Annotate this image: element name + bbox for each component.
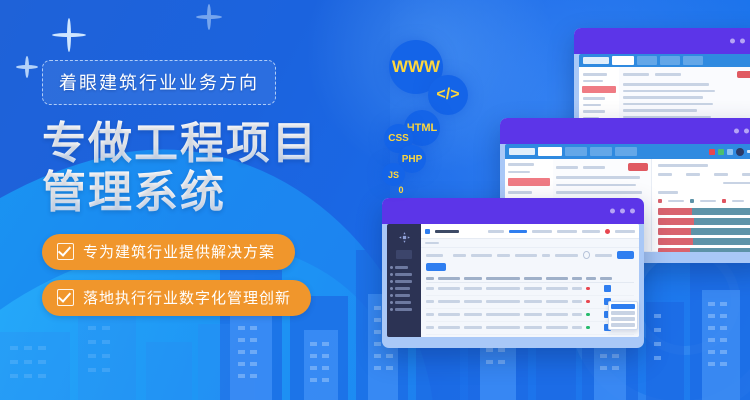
app-logo [583, 57, 609, 64]
sidebar-item-icon [390, 301, 393, 304]
window-titlebar [500, 118, 750, 144]
window-controls[interactable] [730, 39, 750, 44]
sidebar-item-label [395, 294, 410, 297]
tech-bubble-0: 0 [393, 182, 409, 198]
app-topnav [421, 224, 639, 239]
filter-field[interactable] [453, 254, 465, 257]
filter-toggle[interactable] [595, 254, 612, 257]
tab-label[interactable] [425, 242, 439, 245]
tab-strip [421, 239, 639, 248]
row-action-icon[interactable] [604, 285, 611, 292]
table-cell [438, 287, 460, 290]
sidebar-item-icon [390, 308, 393, 311]
table-cell [546, 326, 568, 329]
table-cell [426, 313, 434, 316]
table-cell [464, 326, 482, 329]
table-cell [426, 326, 434, 329]
sidebar-item-label [395, 287, 410, 290]
table-header-row [426, 275, 634, 283]
table-cell [426, 287, 434, 290]
notification-icon[interactable] [709, 149, 715, 155]
search-icon[interactable] [583, 251, 590, 259]
sidebar-menu [387, 264, 421, 313]
breadcrumb [435, 230, 459, 233]
nav-item[interactable] [557, 230, 577, 233]
app-tab[interactable] [683, 56, 703, 65]
feature-badge[interactable]: 专为建筑行业提供解决方案 [42, 234, 295, 270]
window-body [387, 224, 639, 337]
settings-icon[interactable] [727, 149, 733, 155]
sidebar-item-label [395, 301, 411, 304]
chart-segment-completed [658, 248, 690, 252]
table-cell [486, 300, 520, 303]
action-button[interactable] [737, 71, 750, 78]
tagline-box: 着眼建筑行业业务方向 [42, 60, 276, 105]
user-menu[interactable] [615, 230, 635, 233]
sidebar-item-active[interactable] [582, 86, 616, 93]
table-cell [464, 313, 482, 316]
notification-badge[interactable] [605, 229, 610, 234]
page-title: 专做工程项目 管理系统 [42, 119, 342, 218]
app-header-bar [505, 144, 750, 159]
table-header-cell [586, 277, 596, 280]
nav-item[interactable] [582, 230, 600, 233]
sparkle-icon-1 [52, 18, 86, 52]
table-cell [426, 300, 434, 303]
dropdown-item[interactable] [611, 317, 635, 321]
sidebar-item[interactable] [387, 271, 421, 278]
table-cell [486, 287, 520, 290]
table-row[interactable] [426, 283, 634, 296]
sidebar-item[interactable] [387, 306, 421, 313]
table-cell [572, 326, 582, 329]
table-body [426, 275, 634, 335]
table-cell [524, 313, 542, 316]
table-header-cell [438, 277, 460, 280]
sidebar-collapse-button[interactable] [396, 250, 412, 259]
app-tab[interactable] [538, 147, 562, 156]
table-cell [572, 313, 582, 316]
app-logo [387, 224, 421, 250]
sidebar-item-label [395, 273, 412, 276]
sidebar-item-icon [390, 273, 393, 276]
app-tab[interactable] [612, 56, 634, 65]
chart-legend [658, 199, 750, 203]
sidebar-item[interactable] [387, 299, 421, 306]
table-cell [438, 300, 460, 303]
window-controls[interactable] [610, 209, 635, 214]
chart-segment-completed [658, 218, 694, 225]
headline-line-1: 专做工程项目 [42, 119, 342, 168]
nav-item-active[interactable] [509, 230, 527, 233]
app-tab[interactable] [615, 147, 637, 156]
checkbox-checked-icon [57, 243, 74, 260]
sidebar-item-icon [390, 280, 393, 283]
sidebar-item[interactable] [387, 285, 421, 292]
dropdown-item[interactable] [611, 311, 635, 315]
window-titlebar [574, 28, 750, 54]
chart-segment-inprogress [694, 218, 750, 225]
filter-field[interactable] [471, 254, 493, 257]
table-cell [546, 313, 568, 316]
table-header-cell [546, 277, 568, 280]
filter-field[interactable] [542, 254, 550, 257]
app-tab[interactable] [637, 56, 657, 65]
sparkle-icon-3 [196, 4, 222, 30]
table-cell [572, 300, 582, 303]
search-input[interactable] [555, 254, 578, 257]
banner-copy: 着眼建筑行业业务方向 专做工程项目 管理系统 专为建筑行业提供解决方案 落地执行… [42, 60, 342, 326]
table-cell [524, 300, 542, 303]
table-cell [546, 300, 568, 303]
table-cell [438, 313, 460, 316]
app-header-bar [579, 54, 750, 67]
filter-field[interactable] [497, 254, 509, 257]
app-tab[interactable] [565, 147, 587, 156]
table-cell [486, 326, 520, 329]
sidebar-item-label [395, 308, 412, 311]
app-chart-panel [652, 159, 750, 251]
stacked-bar-chart [658, 208, 750, 252]
tagline-text: 着眼建筑行业业务方向 [59, 73, 259, 93]
app-sidebar [387, 224, 421, 337]
table-header-cell [572, 277, 582, 280]
chart-bar-row [658, 208, 750, 215]
sidebar-item[interactable] [387, 278, 421, 285]
filter-label [426, 254, 443, 257]
sidebar-item-label [395, 266, 408, 269]
chart-segment-inprogress [691, 228, 750, 235]
dropdown-menu[interactable] [608, 301, 638, 330]
table-cell [464, 300, 482, 303]
chart-bar-row [658, 248, 750, 252]
message-icon[interactable] [718, 149, 724, 155]
table-cell [572, 287, 582, 290]
table-cell [464, 287, 482, 290]
data-table [421, 248, 639, 337]
chart-segment-completed [658, 238, 693, 245]
chart-segment-inprogress [693, 238, 750, 245]
dropdown-item-active[interactable] [611, 304, 635, 309]
dropdown-item[interactable] [611, 323, 635, 327]
app-content [421, 224, 639, 337]
table-header-cell [426, 277, 434, 280]
nav-item[interactable] [488, 230, 504, 233]
sidebar-item-label [395, 280, 412, 283]
table-cell [546, 287, 568, 290]
chart-bar-row [658, 228, 750, 235]
chart-segment-completed [658, 208, 692, 215]
status-badge [586, 300, 590, 304]
sparkle-icon-2 [16, 56, 38, 78]
action-button[interactable] [628, 163, 648, 171]
filter-field[interactable] [515, 254, 537, 257]
chart-segment-inprogress [690, 248, 750, 252]
table-header-cell [600, 277, 612, 280]
feature-badge-list: 专为建筑行业提供解决方案 落地执行行业数字化管理创新 [42, 234, 342, 316]
sidebar-item[interactable] [387, 264, 421, 271]
sidebar-item-icon [390, 266, 393, 269]
dashboard-window-front[interactable] [382, 198, 644, 348]
feature-badge-label: 专为建筑行业提供解决方案 [83, 241, 275, 262]
table-cell [524, 326, 542, 329]
chart-bar-row [658, 218, 750, 225]
status-badge [586, 287, 590, 291]
tech-bubble-: </> [428, 75, 468, 115]
feature-badge[interactable]: 落地执行行业数字化管理创新 [42, 280, 311, 316]
app-tab[interactable] [660, 56, 680, 65]
menu-icon[interactable] [425, 229, 430, 234]
sidebar-item-icon [390, 294, 393, 297]
window-titlebar [382, 198, 644, 224]
checkbox-checked-icon [57, 289, 74, 306]
table-header-cell [486, 277, 520, 280]
status-badge [586, 326, 590, 330]
sidebar-item-active[interactable] [508, 178, 550, 186]
table-row[interactable] [426, 309, 634, 322]
headline-line-2: 管理系统 [42, 168, 342, 217]
table-row[interactable] [426, 296, 634, 309]
table-header-cell [524, 277, 542, 280]
chart-segment-inprogress [692, 208, 750, 215]
table-cell [438, 326, 460, 329]
nav-item[interactable] [532, 230, 552, 233]
search-button[interactable] [617, 251, 634, 259]
sidebar-item-icon [390, 287, 393, 290]
app-tab[interactable] [590, 147, 612, 156]
window-controls[interactable] [734, 129, 750, 134]
chart-segment-completed [658, 228, 691, 235]
app-logo [509, 148, 535, 155]
add-button[interactable] [426, 263, 446, 271]
table-header-cell [464, 277, 482, 280]
banner-canvas: 着眼建筑行业业务方向 专做工程项目 管理系统 专为建筑行业提供解决方案 落地执行… [0, 0, 750, 400]
avatar[interactable] [736, 148, 744, 156]
table-cell [524, 287, 542, 290]
table-cell [486, 313, 520, 316]
status-badge [586, 313, 590, 317]
table-row[interactable] [426, 322, 634, 335]
feature-badge-label: 落地执行行业数字化管理创新 [83, 287, 291, 308]
sidebar-item[interactable] [387, 292, 421, 299]
chart-bar-row [658, 238, 750, 245]
